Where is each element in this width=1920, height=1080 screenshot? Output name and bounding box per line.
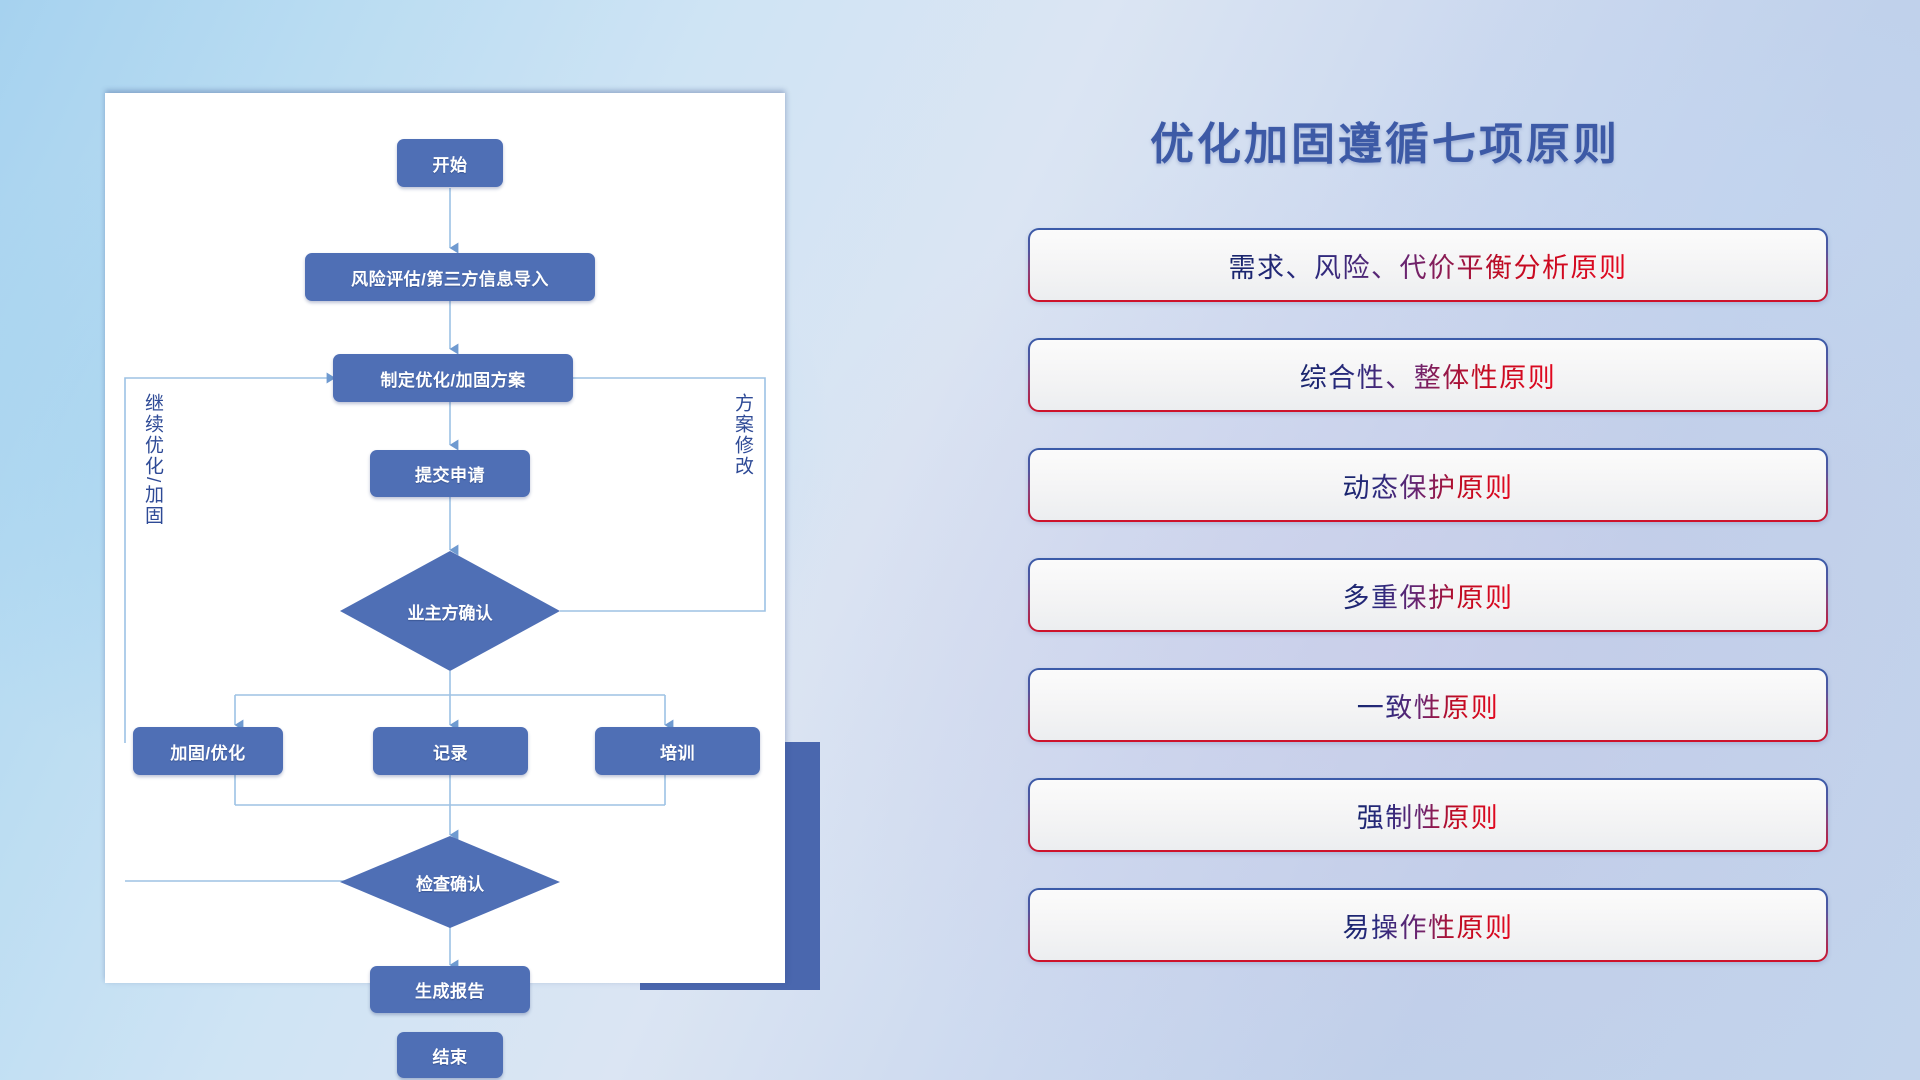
flow-node-record[interactable]: 记录 <box>373 727 528 775</box>
loop-label-continue-optimize: 继续优化/加固 <box>143 393 162 526</box>
principle-item[interactable]: 一致性原则 <box>1028 668 1828 742</box>
principle-item[interactable]: 强制性原则 <box>1028 778 1828 852</box>
flowchart-card: 开始 风险评估/第三方信息导入 制定优化/加固方案 提交申请 业主方确认 加固/… <box>105 93 785 983</box>
flow-node-label: 结束 <box>433 1043 468 1068</box>
principle-item[interactable]: 需求、风险、代价平衡分析原则 <box>1028 228 1828 302</box>
flow-node-submit-application[interactable]: 提交申请 <box>370 450 530 497</box>
principle-item-label: 动态保护原则 <box>1343 466 1514 505</box>
flow-node-reinforce-optimize[interactable]: 加固/优化 <box>133 727 283 775</box>
principles-list: 需求、风险、代价平衡分析原则 综合性、整体性原则 动态保护原则 多重保护原则 一… <box>1028 228 1828 998</box>
flow-node-start[interactable]: 开始 <box>397 139 503 187</box>
principle-item-surface: 一致性原则 <box>1030 670 1826 740</box>
principle-item-label: 一致性原则 <box>1357 686 1500 725</box>
flow-node-risk-assessment[interactable]: 风险评估/第三方信息导入 <box>305 253 595 301</box>
principle-item[interactable]: 综合性、整体性原则 <box>1028 338 1828 412</box>
principle-item-label: 强制性原则 <box>1357 796 1500 835</box>
flow-node-owner-confirm[interactable]: 业主方确认 <box>340 551 560 671</box>
flow-node-label: 制定优化/加固方案 <box>380 366 525 391</box>
flow-node-training[interactable]: 培训 <box>595 727 760 775</box>
flow-node-label: 风险评估/第三方信息导入 <box>351 265 549 290</box>
principle-item-surface: 综合性、整体性原则 <box>1030 340 1826 410</box>
flow-node-end[interactable]: 结束 <box>397 1032 503 1078</box>
principle-item-surface: 动态保护原则 <box>1030 450 1826 520</box>
flow-node-label: 检查确认 <box>416 870 484 895</box>
flow-node-label: 业主方确认 <box>408 599 493 624</box>
flow-node-label: 生成报告 <box>415 977 485 1002</box>
principle-item-label: 综合性、整体性原则 <box>1300 356 1557 395</box>
principle-item-label: 易操作性原则 <box>1343 906 1514 945</box>
principle-item[interactable]: 多重保护原则 <box>1028 558 1828 632</box>
principle-item[interactable]: 易操作性原则 <box>1028 888 1828 962</box>
principle-item-label: 需求、风险、代价平衡分析原则 <box>1229 246 1628 285</box>
principle-item-surface: 需求、风险、代价平衡分析原则 <box>1030 230 1826 300</box>
flow-node-label: 提交申请 <box>415 461 485 486</box>
flow-node-label: 记录 <box>433 739 468 764</box>
flow-node-label: 开始 <box>433 151 468 176</box>
principle-item-surface: 易操作性原则 <box>1030 890 1826 960</box>
principles-panel: 优化加固遵循七项原则 需求、风险、代价平衡分析原则 综合性、整体性原则 动态保护… <box>1000 0 1920 1080</box>
principle-item-surface: 多重保护原则 <box>1030 560 1826 630</box>
flow-node-label: 加固/优化 <box>170 739 245 764</box>
loop-label-plan-revision: 方案修改 <box>733 393 752 477</box>
flow-node-make-plan[interactable]: 制定优化/加固方案 <box>333 354 573 402</box>
principles-title: 优化加固遵循七项原则 <box>1150 108 1620 172</box>
principle-item-surface: 强制性原则 <box>1030 780 1826 850</box>
flow-node-label: 培训 <box>660 739 695 764</box>
flow-node-inspection-confirm[interactable]: 检查确认 <box>340 836 560 928</box>
principle-item[interactable]: 动态保护原则 <box>1028 448 1828 522</box>
flowchart-panel: 开始 风险评估/第三方信息导入 制定优化/加固方案 提交申请 业主方确认 加固/… <box>0 0 900 1080</box>
principle-item-label: 多重保护原则 <box>1343 576 1514 615</box>
flow-node-generate-report[interactable]: 生成报告 <box>370 966 530 1013</box>
